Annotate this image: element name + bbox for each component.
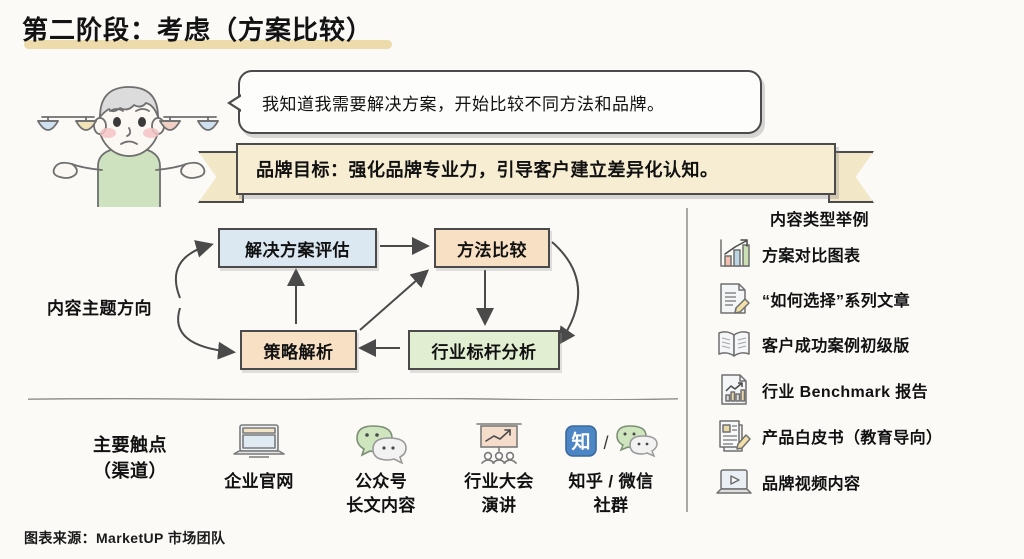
flow-node-industry-benchmark[interactable]: 行业标杆分析: [408, 330, 560, 370]
document-pencil-icon: [706, 282, 762, 316]
laptop-video-icon: [706, 465, 762, 499]
flow-diagram-label: 内容主题方向: [47, 294, 152, 319]
brand-goal-text: 品牌目标：强化品牌专业力，引导客户建立差异化认知。: [238, 156, 719, 182]
svg-text:知: 知: [571, 430, 590, 453]
content-type-label: “如何选择”系列文章: [762, 287, 910, 311]
infographic-canvas: 第二阶段：考虑（方案比较）: [0, 0, 1024, 559]
section-divider-vertical: [686, 208, 688, 512]
zhihu-wechat-icon: 知 /: [548, 418, 674, 466]
persona-speech-bubble: 我知道我需要解决方案，开始比较不同方法和品牌。: [238, 70, 762, 134]
page-title-text: 第二阶段：考虑（方案比较）: [22, 10, 373, 47]
touchpoints-title: 主要触点 （渠道）: [60, 432, 200, 484]
persona-speech-text: 我知道我需要解决方案，开始比较不同方法和品牌。: [240, 90, 665, 115]
content-type-label: 产品白皮书（教育导向）: [762, 424, 942, 448]
touchpoint-label: 行业大会 演讲: [436, 470, 562, 518]
touchpoints-title-line1: 主要触点: [60, 432, 200, 458]
flow-node-method-comparison[interactable]: 方法比较: [434, 228, 550, 268]
content-type-label: 方案对比图表: [762, 242, 860, 266]
page-title: 第二阶段：考虑（方案比较）: [22, 10, 373, 47]
flow-node-strategy-analysis[interactable]: 策略解析: [240, 330, 357, 370]
touchpoint-label: 企业官网: [196, 470, 322, 494]
svg-text:/: /: [603, 433, 608, 453]
content-type-how-to-choose-articles[interactable]: “如何选择”系列文章: [706, 279, 1018, 319]
content-type-benchmark-report[interactable]: 行业 Benchmark 报告: [706, 370, 1018, 410]
speech-bubble-tail-inner: [231, 96, 242, 110]
source-footer: 图表来源：MarketUP 市场团队: [24, 528, 225, 548]
presentation-board-icon: [436, 418, 562, 466]
touchpoint-wechat-official-account[interactable]: 公众号 长文内容: [318, 418, 444, 518]
laptop-website-icon: [196, 418, 322, 466]
touchpoints-title-line2: （渠道）: [60, 458, 200, 484]
bar-chart-icon: [706, 237, 762, 271]
flow-node-solution-evaluation[interactable]: 解决方案评估: [218, 228, 377, 268]
brand-goal-ribbon: 品牌目标：强化品牌专业力，引导客户建立差异化认知。: [198, 143, 870, 199]
report-chart-icon: [706, 373, 762, 407]
touchpoint-label: 知乎 / 微信 社群: [548, 470, 674, 518]
touchpoint-zhihu-wechat-community[interactable]: 知 / 知乎 / 微信 社群: [548, 418, 674, 518]
touchpoint-corporate-website[interactable]: 企业官网: [196, 418, 322, 494]
content-type-customer-success-cases[interactable]: 客户成功案例初级版: [706, 324, 1018, 364]
content-type-label: 行业 Benchmark 报告: [762, 378, 928, 402]
brand-goal-ribbon-body: 品牌目标：强化品牌专业力，引导客户建立差异化认知。: [236, 143, 836, 195]
content-type-label: 品牌视频内容: [762, 470, 860, 494]
wechat-bubbles-icon: [318, 418, 444, 466]
content-type-brand-video[interactable]: 品牌视频内容: [706, 462, 1018, 502]
content-type-comparison-chart[interactable]: 方案对比图表: [706, 234, 1018, 274]
content-type-label: 客户成功案例初级版: [762, 332, 910, 356]
content-types-title: 内容类型举例: [770, 206, 869, 230]
touchpoint-industry-conference[interactable]: 行业大会 演讲: [436, 418, 562, 518]
section-divider-horizontal: [28, 398, 678, 400]
content-types-panel: 内容类型举例 方案对比图表: [706, 200, 1018, 520]
main-touchpoints-section: 主要触点 （渠道） 企业官网: [30, 412, 680, 522]
content-theme-flow-diagram: 内容主题方向 解决方案评估 方法比较 策略解析 行业标杆分析: [30, 212, 640, 392]
touchpoint-label: 公众号 长文内容: [318, 470, 444, 518]
content-type-product-whitepaper[interactable]: 产品白皮书（教育导向）: [706, 416, 1018, 456]
whitepaper-icon: [706, 419, 762, 453]
open-book-icon: [706, 327, 762, 361]
